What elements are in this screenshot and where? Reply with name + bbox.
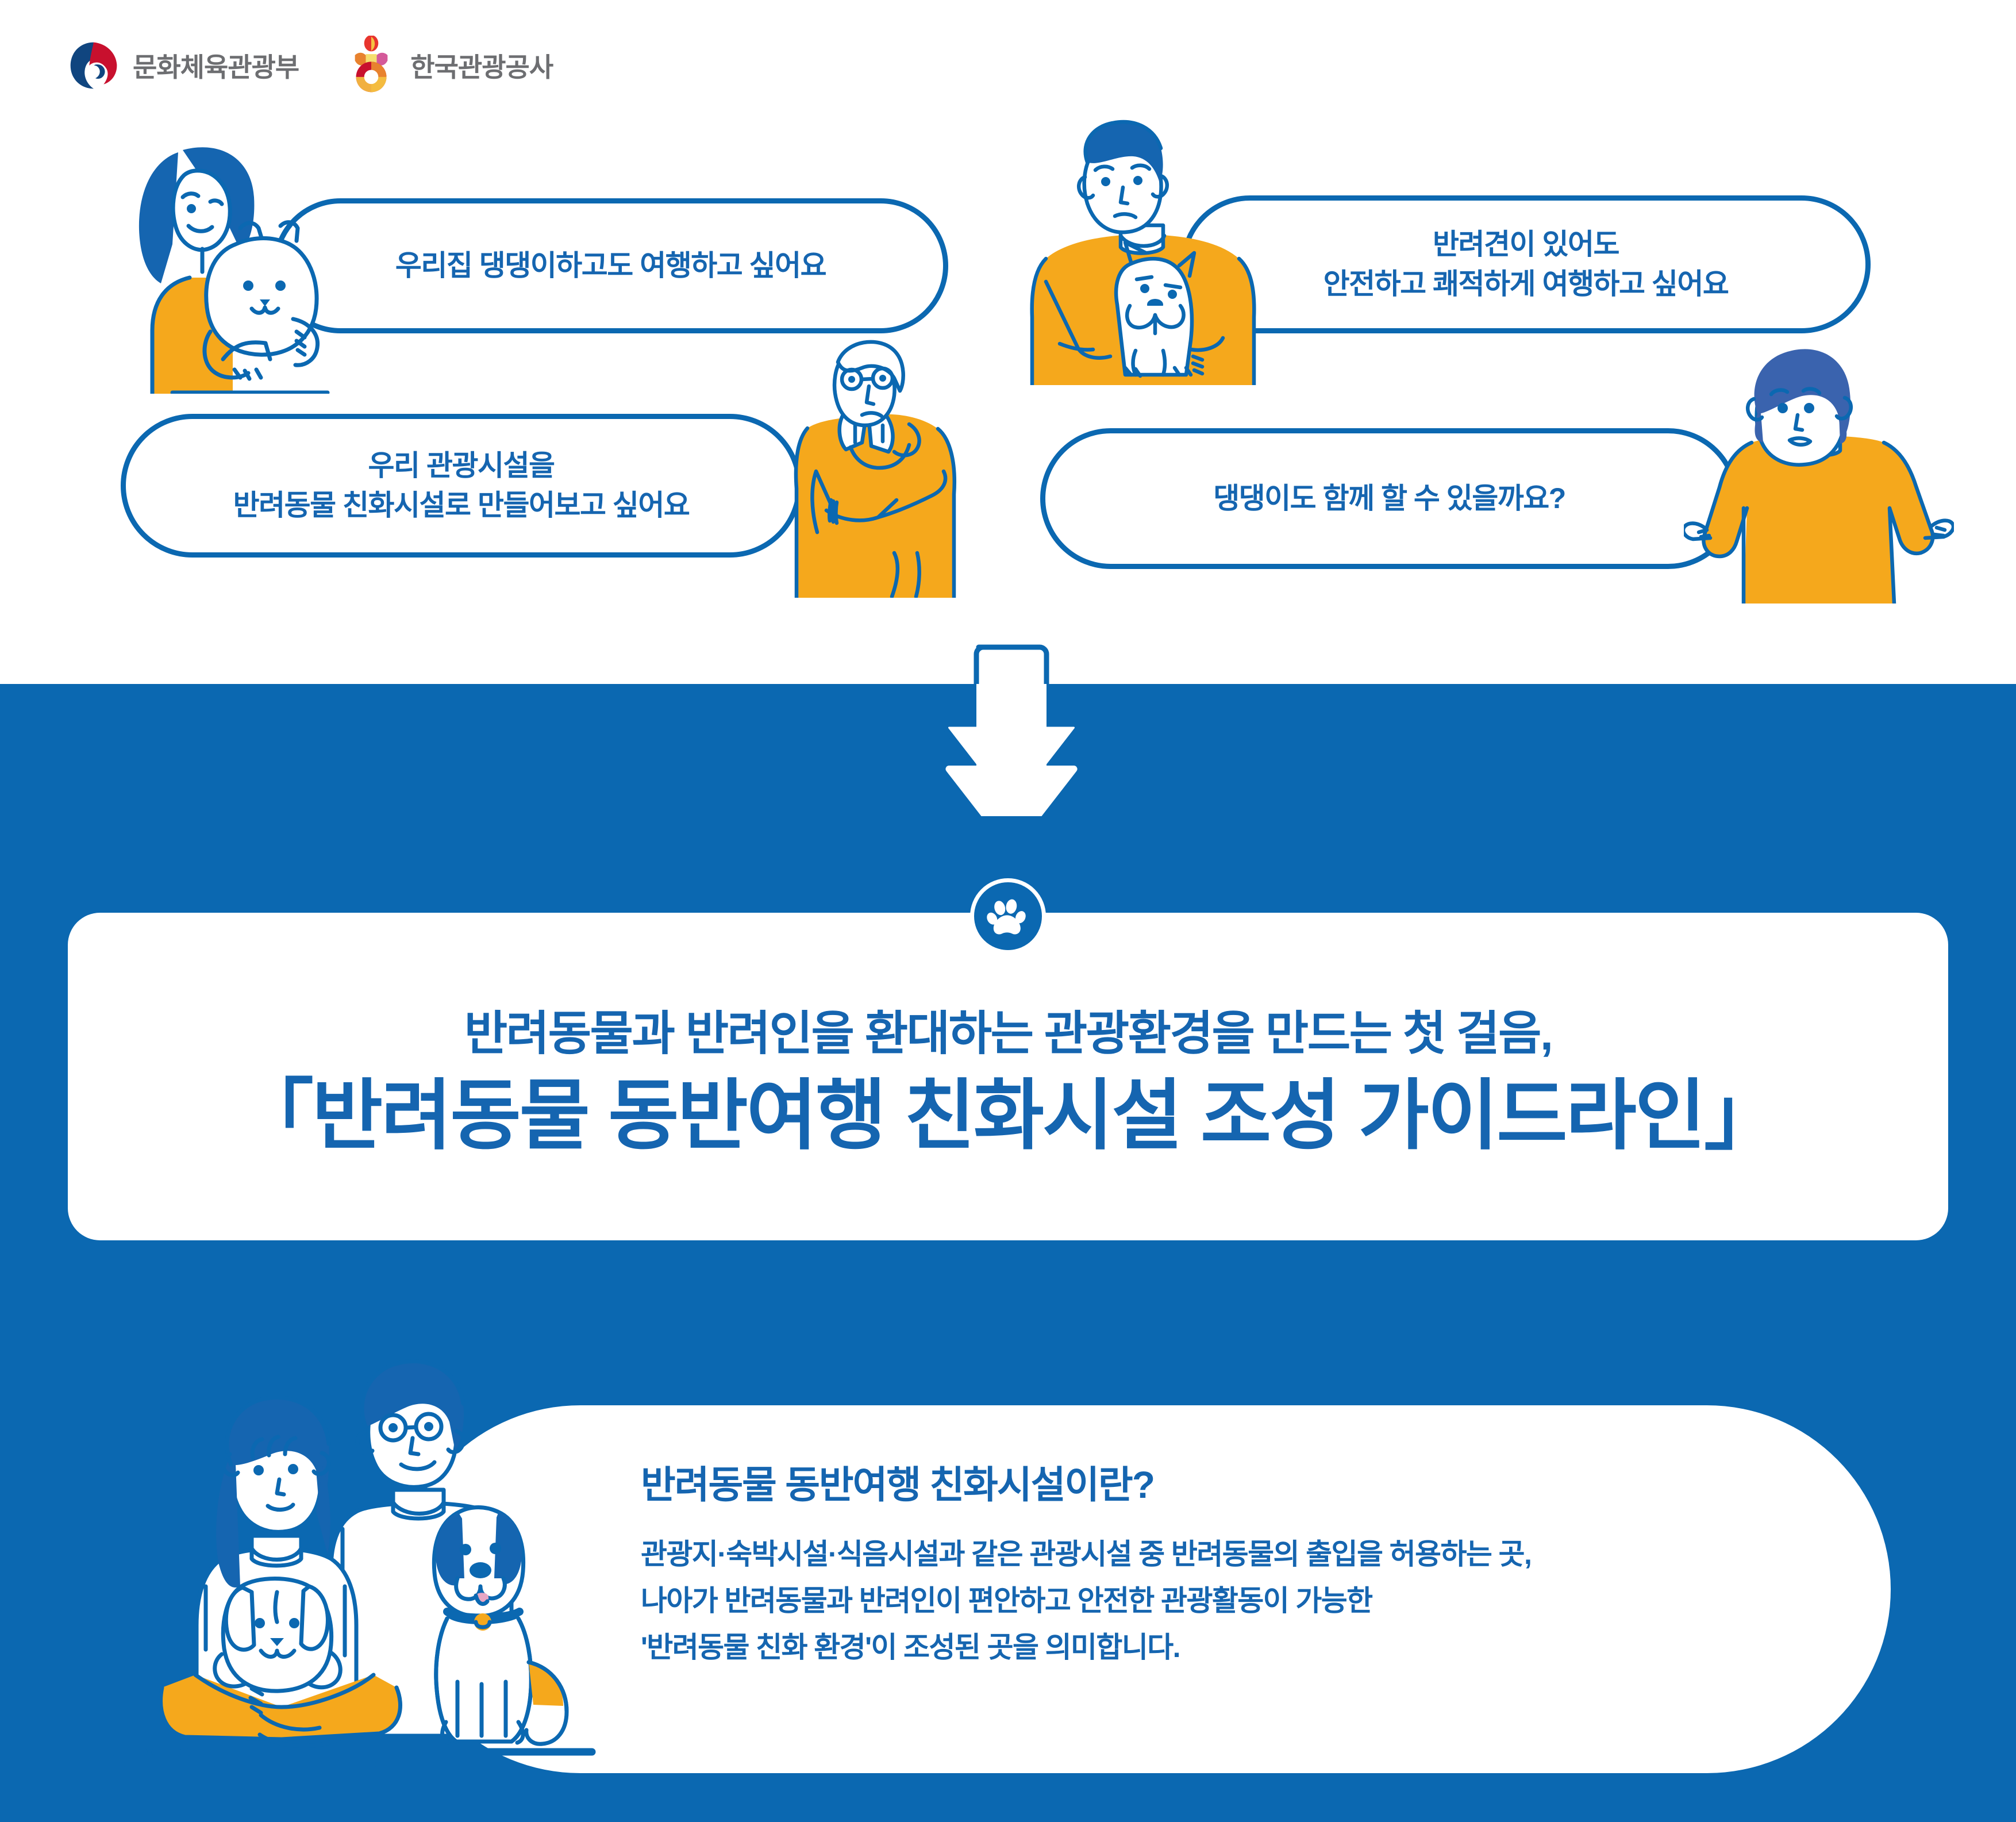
speech-bubble-3-line-1: 반려견이 있어도 bbox=[1324, 225, 1729, 264]
paw-print-icon bbox=[970, 878, 1046, 954]
info-body-line-2: 나아가 반려동물과 반려인이 편안하고 안전한 관광활동이 가능한 bbox=[641, 1578, 1842, 1624]
woman-hugging-pomeranian-illustration bbox=[98, 129, 345, 394]
logo-kto-label: 한국관광공사 bbox=[410, 47, 553, 84]
logo-ministry-label: 문화체육관광부 bbox=[133, 47, 299, 84]
info-heading: 반려동물 동반여행 친화시설이란? bbox=[641, 1454, 1842, 1509]
family-with-two-dogs-illustration bbox=[109, 1339, 615, 1793]
info-card-content: 반려동물 동반여행 친화시설이란? 관광지·숙박시설·식음시설과 같은 관광시설… bbox=[641, 1454, 1842, 1671]
info-body-line-3: '반려동물 친화 환경'이 조성된 곳을 의미합니다. bbox=[641, 1624, 1842, 1671]
title-main-heading: 「반려동물 동반여행 친화시설 조성 가이드라인」 bbox=[237, 1075, 1779, 1158]
speech-bubble-2-line-2: 반려동물 친화시설로 만들어보고 싶어요 bbox=[233, 486, 690, 525]
speech-bubble-3-line-2: 안전하고 쾌적하게 여행하고 싶어요 bbox=[1324, 264, 1729, 304]
speech-bubble-3: 반려견이 있어도 안전하고 쾌적하게 여행하고 싶어요 bbox=[1181, 195, 1871, 333]
speech-bubble-2: 우리 관광시설을 반려동물 친화시설로 만들어보고 싶어요 bbox=[121, 414, 802, 558]
main-title-card: 반려동물과 반려인을 환대하는 관광환경을 만드는 첫 걸음, 「반려동물 동반… bbox=[68, 913, 1948, 1240]
speech-bubble-1: 우리집 댕댕이하고도 여행하고 싶어요 bbox=[273, 198, 948, 333]
arrow-blue-mask bbox=[937, 684, 1081, 816]
speech-bubble-2-line-1: 우리 관광시설을 bbox=[233, 446, 690, 486]
speech-bubble-1-line-1: 우리집 댕댕이하고도 여행하고 싶어요 bbox=[395, 246, 826, 286]
info-body-line-1: 관광지·숙박시설·식음시설과 같은 관광시설 중 반려동물의 출입을 허용하는 … bbox=[641, 1531, 1842, 1578]
info-body: 관광지·숙박시설·식음시설과 같은 관광시설 중 반려동물의 출입을 허용하는 … bbox=[641, 1531, 1842, 1671]
kto-figure-icon bbox=[344, 36, 399, 95]
man-holding-small-dog-illustration bbox=[1023, 115, 1264, 385]
logo-korea-tourism-organization: 한국관광공사 bbox=[344, 36, 553, 95]
title-subtitle: 반려동물과 반려인을 환대하는 관광환경을 만드는 첫 걸음, bbox=[464, 995, 1552, 1063]
woman-shrugging-illustration bbox=[1684, 345, 1954, 604]
man-thinking-with-glasses-illustration bbox=[782, 328, 971, 598]
speech-bubble-4-line-1: 댕댕이도 함께 할 수 있을까요? bbox=[1213, 479, 1565, 518]
speech-bubble-4: 댕댕이도 함께 할 수 있을까요? bbox=[1040, 428, 1738, 569]
infographic-poster: 문화체육관광부 한국관광공사 우리집 댕댕이하고도 여행하고 싶어요 우리 관광… bbox=[0, 0, 2016, 1822]
logo-bar: 문화체육관광부 한국관광공사 bbox=[66, 36, 553, 95]
taegeuk-ministry-icon bbox=[66, 38, 121, 93]
logo-ministry-of-culture-sports-tourism: 문화체육관광부 bbox=[66, 38, 299, 93]
